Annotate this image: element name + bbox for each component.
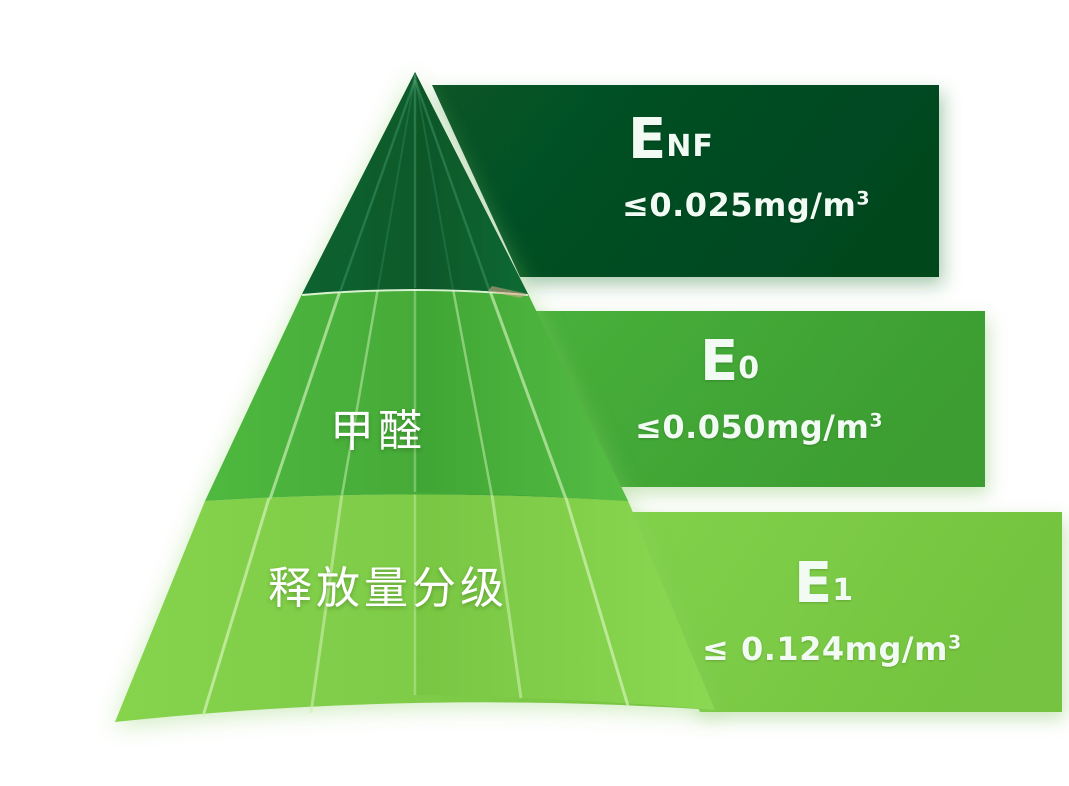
panel-enf-operator: ≤ (622, 186, 649, 224)
panel-e1-grade-main: E (794, 551, 832, 616)
panel-e1-grade: E1 (794, 556, 962, 612)
infographic-root: 甲醛 释放量分级 ENF ≤0.025mg/m3 E0 ≤0.050mg/m3 … (0, 0, 1069, 786)
panel-e0-exponent: 3 (869, 409, 883, 431)
panel-enf-label: ENF ≤0.025mg/m3 (628, 112, 870, 224)
panel-e0-grade-sub: 0 (738, 351, 760, 386)
panel-e1-value: ≤ 0.124mg/m3 (702, 630, 962, 668)
pyramid-tier-middle-label: 甲醛 (330, 395, 426, 459)
pyramid-diagram (0, 0, 1069, 786)
panel-e0-label: E0 ≤0.050mg/m3 (700, 334, 883, 446)
panel-e0-number: 0.050 (662, 408, 766, 446)
panel-e0-value: ≤0.050mg/m3 (635, 408, 883, 446)
panel-e1-label: E1 ≤ 0.124mg/m3 (794, 556, 962, 668)
panel-e0-unit: mg/m (766, 408, 869, 446)
panel-e0-operator: ≤ (635, 408, 662, 446)
panel-enf-value: ≤0.025mg/m3 (622, 186, 870, 224)
panel-enf-exponent: 3 (856, 187, 870, 209)
panel-e1-operator: ≤ (702, 630, 729, 668)
panel-e0-grade-main: E (700, 329, 738, 394)
panel-enf-grade-sub: NF (666, 129, 714, 164)
panel-e1-grade-sub: 1 (832, 573, 854, 608)
panel-enf-unit: mg/m (753, 186, 856, 224)
panel-enf-number: 0.025 (649, 186, 753, 224)
panel-enf-grade: ENF (628, 112, 870, 168)
panel-e1-number: 0.124 (741, 630, 845, 668)
panel-enf-grade-main: E (628, 107, 666, 172)
panel-e1-unit: mg/m (845, 630, 948, 668)
panel-e1-exponent: 3 (948, 631, 962, 653)
panel-e0-grade: E0 (700, 334, 883, 390)
pyramid-tier-bottom-label: 释放量分级 (268, 552, 508, 616)
